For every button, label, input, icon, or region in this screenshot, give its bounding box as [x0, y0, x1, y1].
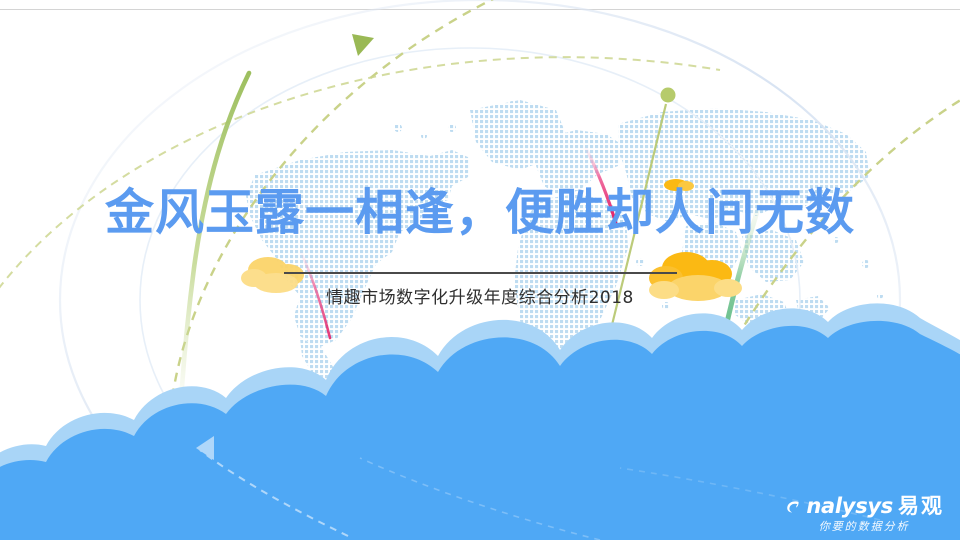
title-divider [284, 272, 677, 274]
logo-en-text: nalysys [806, 496, 893, 517]
logo-tagline: 你要的数据分析 [784, 521, 944, 532]
blue-cloud-band [0, 0, 960, 540]
stem-green-left [180, 73, 249, 420]
orbit-arrowhead-icon [352, 34, 374, 56]
decor-orbits-layer [0, 0, 960, 540]
top-divider-rule [0, 9, 960, 10]
page-title: 金风玉露一相逢，便胜却人间无数 [0, 186, 960, 241]
logo-primary-row: nalysys 易观 [784, 496, 944, 517]
dashed-orbit-arc [168, 0, 560, 540]
logo-cn-text: 易观 [898, 496, 944, 517]
title-divider-wrap [0, 272, 960, 274]
orange-cloud-decor [0, 0, 960, 540]
analysys-swirl-mark [784, 498, 801, 515]
title-block: 金风玉露一相逢，便胜却人间无数 [0, 186, 960, 241]
page-subtitle: 情趣市场数字化升级年度综合分析2018 [326, 288, 634, 308]
white-dashed-arrow [196, 436, 880, 540]
subtitle-wrap: 情趣市场数字化升级年度综合分析2018 [0, 283, 960, 308]
orbit-node-dot [661, 88, 676, 103]
dotted-world-map [0, 0, 960, 540]
presentation-slide: 金风玉露一相逢，便胜却人间无数 情趣市场数字化升级年度综合分析2018 naly… [0, 0, 960, 540]
analysys-logo: nalysys 易观 你要的数据分析 [784, 496, 944, 532]
faint-orbit-ring [60, 0, 900, 540]
